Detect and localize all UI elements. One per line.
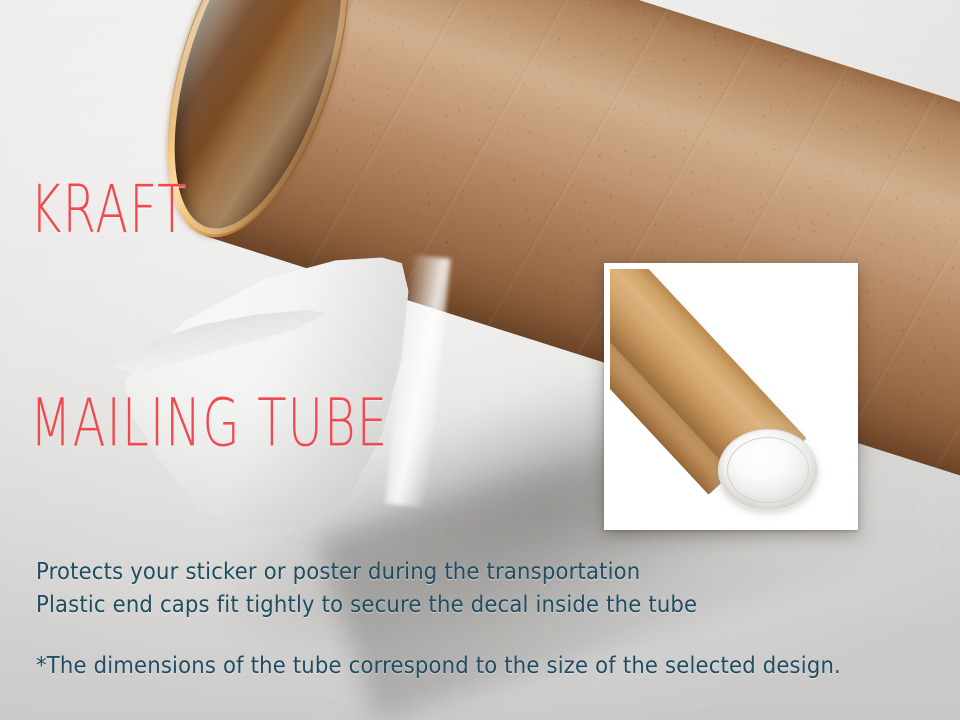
- end-cap-ring: [727, 437, 809, 503]
- body-line-2: Plastic end caps fit tightly to secure t…: [36, 589, 697, 622]
- inset-product-photo: [604, 263, 858, 530]
- title-line-2: MAILING TUBE: [30, 388, 388, 459]
- body-copy: Protects your sticker or poster during t…: [36, 556, 697, 621]
- title-line-1: KRAFT: [30, 175, 388, 246]
- product-banner: KRAFT MAILING TUBE Protects your sticker…: [0, 0, 960, 720]
- body-line-1: Protects your sticker or poster during t…: [36, 556, 697, 589]
- inset-loose-white-end-cap: [718, 429, 818, 511]
- page-title: KRAFT MAILING TUBE: [30, 32, 388, 602]
- inset-photo-canvas: [610, 269, 852, 524]
- footnote-text: *The dimensions of the tube correspond t…: [36, 653, 841, 679]
